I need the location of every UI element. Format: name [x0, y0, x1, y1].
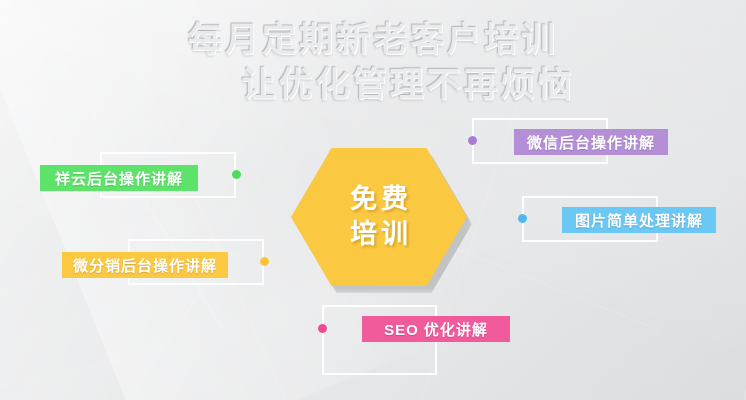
- hexagon-label-line-2: 培训: [346, 217, 412, 252]
- background-crease-2: [80, 0, 292, 400]
- topic-chip-weifenxiao-backend[interactable]: 微分销后台操作讲解: [62, 252, 228, 278]
- headline-line-2: 让优化管理不再烦恼: [0, 63, 746, 108]
- center-badge[interactable]: 免费 培训: [291, 148, 467, 286]
- connector-dot-seo-optimization: [318, 324, 327, 333]
- headline-line-1: 每月定期新老客户培训: [0, 18, 746, 63]
- topic-chip-seo-optimization[interactable]: SEO 优化讲解: [362, 316, 510, 342]
- headline: 每月定期新老客户培训 让优化管理不再烦恼: [0, 18, 746, 108]
- connector-dot-wechat-backend: [468, 136, 477, 145]
- promo-poster: 每月定期新老客户培训 让优化管理不再烦恼 祥云后台操作讲解 微分销后台操作讲解 …: [0, 0, 746, 400]
- hexagon-label-line-1: 免费: [346, 182, 412, 217]
- connector-dot-image-processing: [518, 214, 527, 223]
- connector-dot-xiangyun-backend: [232, 170, 241, 179]
- topic-chip-xiangyun-backend[interactable]: 祥云后台操作讲解: [40, 165, 198, 191]
- connector-dot-weifenxiao-backend: [260, 257, 269, 266]
- hexagon-label: 免费 培训: [291, 148, 467, 286]
- background-crease-7: [0, 360, 120, 400]
- topic-chip-image-processing[interactable]: 图片简单处理讲解: [562, 207, 716, 233]
- topic-chip-wechat-backend[interactable]: 微信后台操作讲解: [514, 129, 668, 155]
